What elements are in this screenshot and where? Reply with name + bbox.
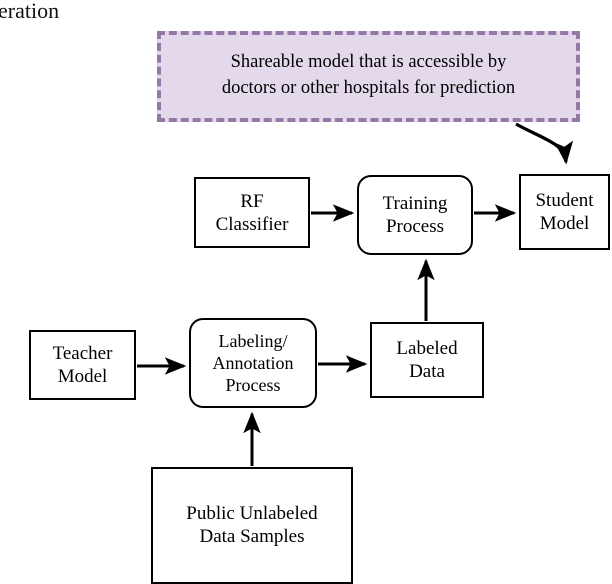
diagram-canvas: eration Shareable model that is accessib… [0,0,612,584]
node-public-unlabeled-data-samples[interactable]: Public Unlabeled Data Samples [151,467,353,584]
node-teacher-model[interactable]: Teacher Model [29,330,136,400]
clipped-heading-text: eration [0,0,59,24]
node-training-process[interactable]: Training Process [357,175,473,255]
edge-callout-to-student [516,124,566,162]
node-rf-classifier[interactable]: RF Classifier [194,177,310,248]
node-student-model[interactable]: Student Model [519,174,610,250]
node-labeled-data[interactable]: Labeled Data [370,322,484,398]
shareable-model-callout: Shareable model that is accessible by do… [157,31,580,122]
node-labeling-annotation-process[interactable]: Labeling/ Annotation Process [189,318,317,408]
